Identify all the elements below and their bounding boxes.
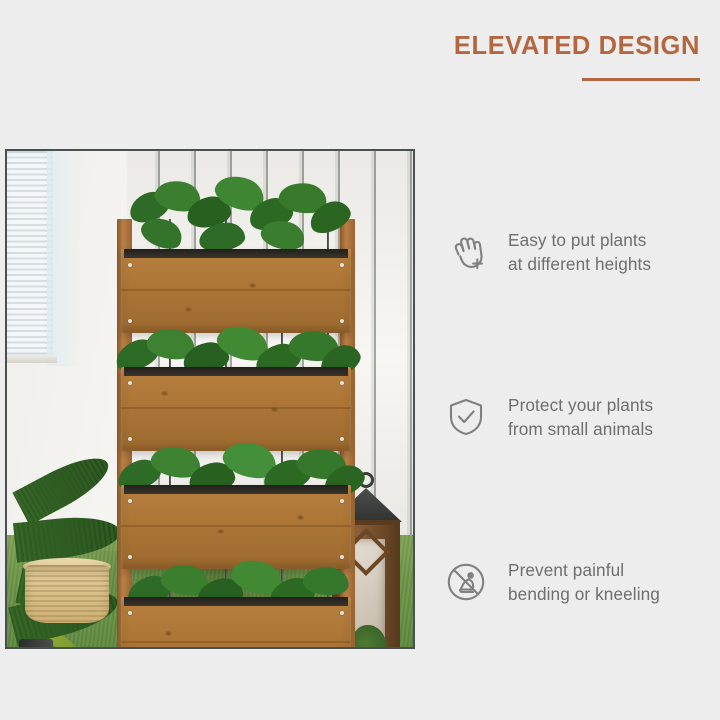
lantern-handle [358,472,374,488]
feature-line-2: from small animals [508,417,653,441]
hand-icon [443,229,489,275]
feature-item-easy-to-put-plants: Easy to put plants at different heights [443,228,715,277]
tiered-planter [117,219,355,647]
feature-line-1: Prevent painful [508,558,660,582]
feature-line-2: at different heights [508,252,651,276]
feature-line-2: bending or kneeling [508,582,660,606]
planter-tier-1 [121,249,351,333]
tier-soil [124,367,348,376]
product-photo [5,149,415,649]
page-title: ELEVATED DESIGN [405,32,700,61]
planter-tier-3 [121,485,351,569]
feature-line-1: Protect your plants [508,393,653,417]
no-bending-icon [443,559,489,605]
shield-check-icon [443,394,489,440]
photo-scene [7,151,413,647]
headline-divider [582,78,700,81]
marketing-image: ELEVATED DESIGN Easy to put plants at di… [0,0,720,720]
feature-item-protect-your-plants: Protect your plants from small animals [443,393,715,442]
feature-text: Easy to put plants at different heights [508,228,651,277]
tier-soil [124,249,348,258]
feature-text: Prevent painful bending or kneeling [508,558,660,607]
tier-soil [124,485,348,494]
window-sill [7,356,57,363]
feature-item-prevent-bending: Prevent painful bending or kneeling [443,558,715,607]
planter-tier-2 [121,367,351,451]
headline-block: ELEVATED DESIGN [405,32,700,81]
tier-soil [124,597,348,606]
wicker-basket [25,565,109,623]
planter-tier-4 [121,597,351,647]
black-pot [19,639,53,647]
feature-text: Protect your plants from small animals [508,393,653,442]
window-light-glow [47,151,83,366]
feature-line-1: Easy to put plants [508,228,651,252]
